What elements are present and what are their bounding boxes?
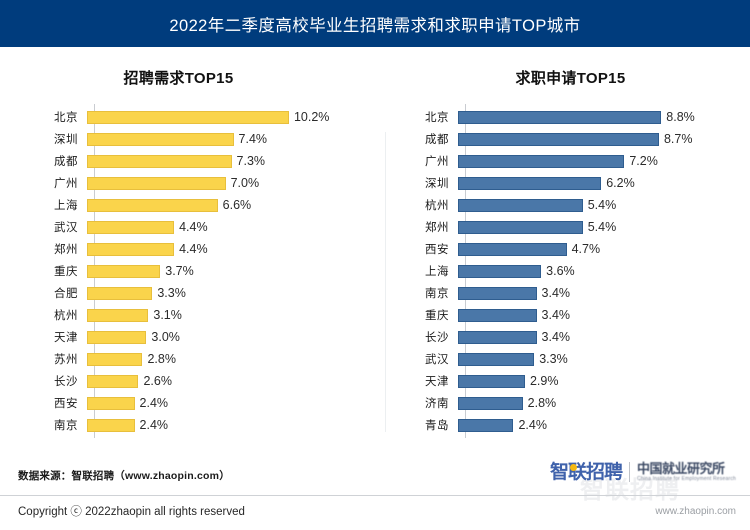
bar — [87, 265, 160, 278]
bar-value-label: 4.7% — [572, 242, 601, 256]
bar-value-label: 8.8% — [666, 110, 695, 124]
bar-track: 2.8% — [86, 352, 385, 366]
bar — [87, 177, 226, 190]
footer-divider — [0, 495, 750, 496]
bar — [458, 353, 534, 366]
bar-track: 3.4% — [457, 330, 750, 344]
bar-row: 武汉4.4% — [0, 216, 385, 238]
bar — [458, 419, 513, 432]
bar — [458, 309, 537, 322]
bar-row: 成都8.7% — [385, 128, 750, 150]
bar-track: 2.4% — [86, 396, 385, 410]
bar-track: 4.7% — [457, 242, 750, 256]
bar-track: 3.0% — [86, 330, 385, 344]
bar — [87, 331, 146, 344]
bar-row: 成都7.3% — [0, 150, 385, 172]
bar-row: 北京10.2% — [0, 106, 385, 128]
bar — [458, 397, 523, 410]
bar — [87, 353, 142, 366]
bar-value-label: 5.4% — [588, 220, 617, 234]
bar-category-label: 广州 — [0, 175, 86, 191]
bar-row: 南京2.4% — [0, 414, 385, 436]
bar-row: 深圳7.4% — [0, 128, 385, 150]
bar-row: 上海3.6% — [385, 260, 750, 282]
bar-category-label: 西安 — [0, 395, 86, 411]
brand-logo: 智联招聘 中国就业研究所 China Institute for Employm… — [550, 462, 736, 482]
bar-category-label: 杭州 — [385, 197, 457, 213]
bar-rows-recruitment-demand: 北京10.2%深圳7.4%成都7.3%广州7.0%上海6.6%武汉4.4%郑州4… — [0, 106, 385, 436]
bar-category-label: 郑州 — [0, 241, 86, 257]
bar — [87, 111, 289, 124]
bar-value-label: 7.3% — [237, 154, 266, 168]
bar-track: 3.4% — [457, 308, 750, 322]
bar — [87, 397, 135, 410]
bar-category-label: 南京 — [0, 417, 86, 433]
bar-category-label: 上海 — [0, 197, 86, 213]
bar-category-label: 北京 — [0, 109, 86, 125]
bar-rows-job-application: 北京8.8%成都8.7%广州7.2%深圳6.2%杭州5.4%郑州5.4%西安4.… — [385, 106, 750, 436]
bar-row: 北京8.8% — [385, 106, 750, 128]
bar-value-label: 3.0% — [151, 330, 180, 344]
bar-value-label: 4.4% — [179, 220, 208, 234]
bar-category-label: 武汉 — [385, 351, 457, 367]
chart-title-recruitment-demand: 招聘需求TOP15 — [0, 67, 385, 88]
bar-value-label: 3.4% — [542, 330, 571, 344]
footer-url: www.zhaopin.com — [655, 506, 736, 517]
bar-track: 6.2% — [457, 176, 750, 190]
bar-category-label: 深圳 — [385, 175, 457, 191]
bar — [87, 155, 232, 168]
bar-track: 2.9% — [457, 374, 750, 388]
bar-category-label: 成都 — [385, 131, 457, 147]
bar-value-label: 2.4% — [518, 418, 547, 432]
chart-panel-job-application: 求职申请TOP15 北京8.8%成都8.7%广州7.2%深圳6.2%杭州5.4%… — [385, 47, 750, 458]
bar-category-label: 天津 — [0, 329, 86, 345]
bar-value-label: 8.7% — [664, 132, 693, 146]
bar-row: 长沙2.6% — [0, 370, 385, 392]
bar-value-label: 3.4% — [542, 308, 571, 322]
bar-category-label: 长沙 — [0, 373, 86, 389]
bar — [458, 265, 541, 278]
bar-value-label: 7.2% — [629, 154, 658, 168]
bar — [87, 243, 174, 256]
bar-category-label: 郑州 — [385, 219, 457, 235]
logo-dot-icon — [570, 464, 577, 471]
bar-value-label: 2.6% — [143, 374, 172, 388]
bar-value-label: 3.6% — [546, 264, 575, 278]
bar — [458, 199, 583, 212]
bar-track: 5.4% — [457, 198, 750, 212]
bar-row: 济南2.8% — [385, 392, 750, 414]
bar-track: 8.8% — [457, 110, 750, 124]
bar-value-label: 2.4% — [140, 396, 169, 410]
zhaopin-logo-icon: 智联招聘 — [550, 463, 622, 482]
bar-value-label: 7.0% — [231, 176, 260, 190]
bar-category-label: 苏州 — [0, 351, 86, 367]
bar-track: 3.3% — [86, 286, 385, 300]
bar-value-label: 3.1% — [153, 308, 182, 322]
bar — [458, 287, 537, 300]
infographic-page: 2022年二季度高校毕业生招聘需求和求职申请TOP城市 招聘需求TOP15 北京… — [0, 0, 750, 530]
bar-track: 7.0% — [86, 176, 385, 190]
bar-row: 武汉3.3% — [385, 348, 750, 370]
logo-separator — [629, 462, 630, 482]
bar-category-label: 上海 — [385, 263, 457, 279]
bar-track: 3.6% — [457, 264, 750, 278]
bar-value-label: 2.8% — [528, 396, 557, 410]
bar-category-label: 济南 — [385, 395, 457, 411]
bar-value-label: 3.4% — [542, 286, 571, 300]
bar-track: 6.6% — [86, 198, 385, 212]
bar — [458, 133, 659, 146]
bar-category-label: 天津 — [385, 373, 457, 389]
institute-name-en: China Institute for Employment Research — [637, 477, 736, 482]
bar-track: 3.1% — [86, 308, 385, 322]
bar-value-label: 6.6% — [223, 198, 252, 212]
bar-category-label: 广州 — [385, 153, 457, 169]
bar-row: 天津2.9% — [385, 370, 750, 392]
bar-track: 10.2% — [86, 110, 385, 124]
copyright-text: Copyright ⓒ 2022zhaopin all rights reser… — [18, 503, 245, 519]
bar-track: 2.6% — [86, 374, 385, 388]
bar-row: 深圳6.2% — [385, 172, 750, 194]
bar-row: 广州7.2% — [385, 150, 750, 172]
bar-category-label: 南京 — [385, 285, 457, 301]
bar-track: 3.7% — [86, 264, 385, 278]
bar-category-label: 重庆 — [385, 307, 457, 323]
bar-row: 西安4.7% — [385, 238, 750, 260]
bar — [458, 375, 525, 388]
bar — [87, 221, 174, 234]
bar — [87, 309, 148, 322]
bar-category-label: 北京 — [385, 109, 457, 125]
header-banner: 2022年二季度高校毕业生招聘需求和求职申请TOP城市 — [0, 0, 750, 47]
bar-category-label: 西安 — [385, 241, 457, 257]
bar — [458, 155, 624, 168]
institute-name-cn: 中国就业研究所 — [637, 462, 736, 475]
bar-category-label: 青岛 — [385, 417, 457, 433]
bar — [458, 331, 537, 344]
bar-value-label: 5.4% — [588, 198, 617, 212]
bar — [87, 199, 218, 212]
bar-value-label: 2.9% — [530, 374, 559, 388]
data-source-label: 数据来源：智联招聘（www.zhaopin.com） — [18, 468, 230, 483]
page-title: 2022年二季度高校毕业生招聘需求和求职申请TOP城市 — [169, 12, 580, 36]
bar-value-label: 2.8% — [147, 352, 176, 366]
bar-track: 3.3% — [457, 352, 750, 366]
bar-track: 4.4% — [86, 242, 385, 256]
bar-row: 青岛2.4% — [385, 414, 750, 436]
bar-category-label: 深圳 — [0, 131, 86, 147]
bar — [87, 375, 138, 388]
institute-logo: 中国就业研究所 China Institute for Employment R… — [637, 462, 736, 482]
bar — [458, 111, 661, 124]
charts-container: 招聘需求TOP15 北京10.2%深圳7.4%成都7.3%广州7.0%上海6.6… — [0, 47, 750, 458]
bar-track: 2.8% — [457, 396, 750, 410]
bar-value-label: 4.4% — [179, 242, 208, 256]
bar-value-label: 7.4% — [239, 132, 268, 146]
bar — [458, 243, 567, 256]
bar-category-label: 重庆 — [0, 263, 86, 279]
bar-row: 郑州5.4% — [385, 216, 750, 238]
bar-row: 苏州2.8% — [0, 348, 385, 370]
bar-value-label: 3.3% — [157, 286, 186, 300]
bar-row: 重庆3.7% — [0, 260, 385, 282]
bar-category-label: 合肥 — [0, 285, 86, 301]
bar-row: 天津3.0% — [0, 326, 385, 348]
bar-value-label: 3.7% — [165, 264, 194, 278]
bar — [458, 221, 583, 234]
bar-track: 7.4% — [86, 132, 385, 146]
chart-panel-recruitment-demand: 招聘需求TOP15 北京10.2%深圳7.4%成都7.3%广州7.0%上海6.6… — [0, 47, 385, 458]
bar-value-label: 3.3% — [539, 352, 568, 366]
bar-category-label: 成都 — [0, 153, 86, 169]
footer: 数据来源：智联招聘（www.zhaopin.com） 智联招聘 智联招聘 中国就… — [0, 458, 750, 530]
bar-row: 合肥3.3% — [0, 282, 385, 304]
bar-row: 西安2.4% — [0, 392, 385, 414]
bar-track: 7.3% — [86, 154, 385, 168]
bar-category-label: 武汉 — [0, 219, 86, 235]
bar — [458, 177, 601, 190]
bar-value-label: 6.2% — [606, 176, 635, 190]
chart-title-job-application: 求职申请TOP15 — [391, 67, 750, 88]
bar-row: 长沙3.4% — [385, 326, 750, 348]
bar-category-label: 长沙 — [385, 329, 457, 345]
bar — [87, 419, 135, 432]
bar-track: 4.4% — [86, 220, 385, 234]
bar-track: 2.4% — [457, 418, 750, 432]
chart-recruitment-demand: 北京10.2%深圳7.4%成都7.3%广州7.0%上海6.6%武汉4.4%郑州4… — [0, 106, 385, 436]
bar-value-label: 2.4% — [140, 418, 169, 432]
bar-track: 7.2% — [457, 154, 750, 168]
bar-row: 南京3.4% — [385, 282, 750, 304]
bar-track: 8.7% — [457, 132, 750, 146]
bar-row: 重庆3.4% — [385, 304, 750, 326]
bar-row: 杭州3.1% — [0, 304, 385, 326]
bar — [87, 133, 234, 146]
bar-track: 2.4% — [86, 418, 385, 432]
bar-row: 杭州5.4% — [385, 194, 750, 216]
bar-value-label: 10.2% — [294, 110, 329, 124]
chart-job-application: 北京8.8%成都8.7%广州7.2%深圳6.2%杭州5.4%郑州5.4%西安4.… — [385, 106, 750, 436]
bar-row: 郑州4.4% — [0, 238, 385, 260]
bar — [87, 287, 152, 300]
bar-category-label: 杭州 — [0, 307, 86, 323]
bar-track: 5.4% — [457, 220, 750, 234]
bar-track: 3.4% — [457, 286, 750, 300]
bar-row: 上海6.6% — [0, 194, 385, 216]
logo-mark-text: 智联招聘 — [550, 462, 622, 483]
bar-row: 广州7.0% — [0, 172, 385, 194]
